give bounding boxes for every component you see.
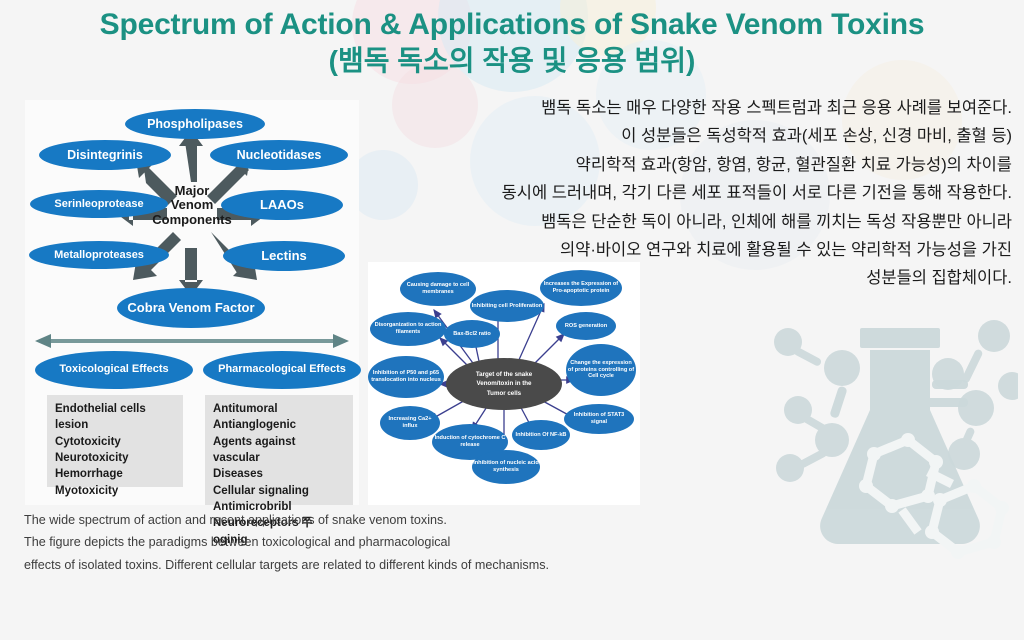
- tumor-node-increasing-ca2-influx[interactable]: Increasing Ca2+ influx: [380, 406, 440, 440]
- list-item: Antianglogenic: [213, 417, 345, 433]
- list-item: Endothelial cells lesion: [55, 401, 175, 434]
- tumor-node-bax-bcl2-ratio[interactable]: Bax-Bcl2 ratio: [444, 320, 500, 348]
- korean-line: 의약·바이오 연구와 치료에 활용될 수 있는 약리학적 가능성을 가진: [384, 236, 1012, 264]
- tumor-node-inhibition-stat3-signal[interactable]: Inhibition of STAT3 signal: [564, 404, 634, 434]
- page-title-ko: (뱀독 독소의 작용 및 응용 범위): [0, 43, 1024, 78]
- tumor-node-inhibition-nf-kb[interactable]: Inhibition Of NF-kB: [512, 420, 570, 450]
- venom-node-serinleoprotease[interactable]: Serinleoprotease: [30, 190, 168, 218]
- list-item: Cellular signaling: [213, 483, 345, 499]
- tumor-center-line-2: Venom/toxin in the: [476, 380, 531, 387]
- tumor-node-inhibition-p50-p65-translocation[interactable]: Inhibition of P50 and p65 translocation …: [368, 356, 444, 398]
- figure-caption: The wide spectrum of action and recent a…: [24, 509, 684, 576]
- venom-components-panel: Major Venom Components Phospholipases Di…: [25, 100, 359, 505]
- flask-molecule-watermark: [762, 288, 1018, 608]
- venom-node-laaos[interactable]: LAAOs: [221, 190, 343, 220]
- venom-node-cobra-venom-factor[interactable]: Cobra Venom Factor: [117, 288, 265, 328]
- caption-line: The wide spectrum of action and recent a…: [24, 509, 684, 531]
- korean-line: 이 성분들은 독성학적 효과(세포 손상, 신경 마비, 출혈 등): [384, 122, 1012, 150]
- pharmacological-effects-node[interactable]: Pharmacological Effects: [203, 351, 361, 389]
- venom-center-line-2: Venom: [171, 197, 214, 212]
- tumor-node-change-expression-cell-cycle[interactable]: Change the expression of proteins contro…: [566, 344, 636, 396]
- tumor-center-line-3: Tumor cells: [487, 390, 521, 397]
- caption-line: The figure depicts the paradigms between…: [24, 531, 684, 553]
- pharmacological-effects-list: Antitumoral Antianglogenic Agents agains…: [205, 395, 353, 505]
- slide-header: Spectrum of Action & Applications of Sna…: [0, 8, 1024, 78]
- toxicological-effects-node[interactable]: Toxicological Effects: [35, 351, 193, 389]
- venom-node-nucleotidases[interactable]: Nucleotidases: [210, 140, 348, 170]
- toxicological-effects-list: Endothelial cells lesion Cytotoxicity Ne…: [47, 395, 183, 487]
- venom-center-line-1: Major: [175, 183, 210, 198]
- list-item: Hemorrhage: [55, 466, 175, 482]
- list-item: Myotoxicity: [55, 483, 175, 499]
- list-item: Neurotoxicity: [55, 450, 175, 466]
- tumor-target-panel: Target of the snake Venom/toxin in the T…: [368, 262, 640, 505]
- korean-line: 뱀독 독소는 매우 다양한 작용 스펙트럼과 최근 응용 사례를 보여준다.: [384, 94, 1012, 122]
- list-item: Cytotoxicity: [55, 434, 175, 450]
- tumor-center-node[interactable]: Target of the snake Venom/toxin in the T…: [446, 358, 562, 410]
- korean-description-paragraph: 뱀독 독소는 매우 다양한 작용 스펙트럼과 최근 응용 사례를 보여준다. 이…: [384, 94, 1012, 293]
- korean-line: 뱀독은 단순한 독이 아니라, 인체에 해를 끼치는 독성 작용뿐만 아니라: [384, 208, 1012, 236]
- tumor-center-line-1: Target of the snake: [476, 371, 532, 378]
- venom-center-line-3: Components: [152, 212, 231, 227]
- korean-line: 동시에 드러내며, 각기 다른 세포 표적들이 서로 다른 기전을 통해 작용한…: [384, 179, 1012, 207]
- tumor-node-ros-generation[interactable]: ROS generation: [556, 312, 616, 340]
- page-title-en: Spectrum of Action & Applications of Sna…: [0, 8, 1024, 41]
- venom-node-lectins[interactable]: Lectins: [223, 241, 345, 271]
- venom-node-phospholipases[interactable]: Phospholipases: [125, 109, 265, 139]
- effects-spectrum-arrow: [35, 333, 349, 349]
- korean-line: 약리학적 효과(항암, 항염, 항균, 혈관질환 치료 가능성)의 차이를: [384, 151, 1012, 179]
- tumor-node-inhibition-nucleic-acid-synthesis[interactable]: Inhibition of nucleic acid synthesis: [472, 450, 540, 484]
- venom-node-disintegrinis[interactable]: Disintegrinis: [39, 140, 171, 170]
- list-item: Agents against vascular: [213, 434, 345, 467]
- tumor-node-inhibiting-cell-proliferation[interactable]: Inhibiting cell Proliferation: [470, 290, 544, 322]
- tumor-node-disorganization-to-action-filaments[interactable]: Disorganization to action filaments: [370, 312, 446, 346]
- korean-line: 성분들의 집합체이다.: [384, 264, 1012, 292]
- venom-node-metalloproteases[interactable]: Metalloproteases: [29, 241, 169, 269]
- list-item: Antitumoral: [213, 401, 345, 417]
- caption-line: effects of isolated toxins. Different ce…: [24, 554, 684, 576]
- list-item: Diseases: [213, 466, 345, 482]
